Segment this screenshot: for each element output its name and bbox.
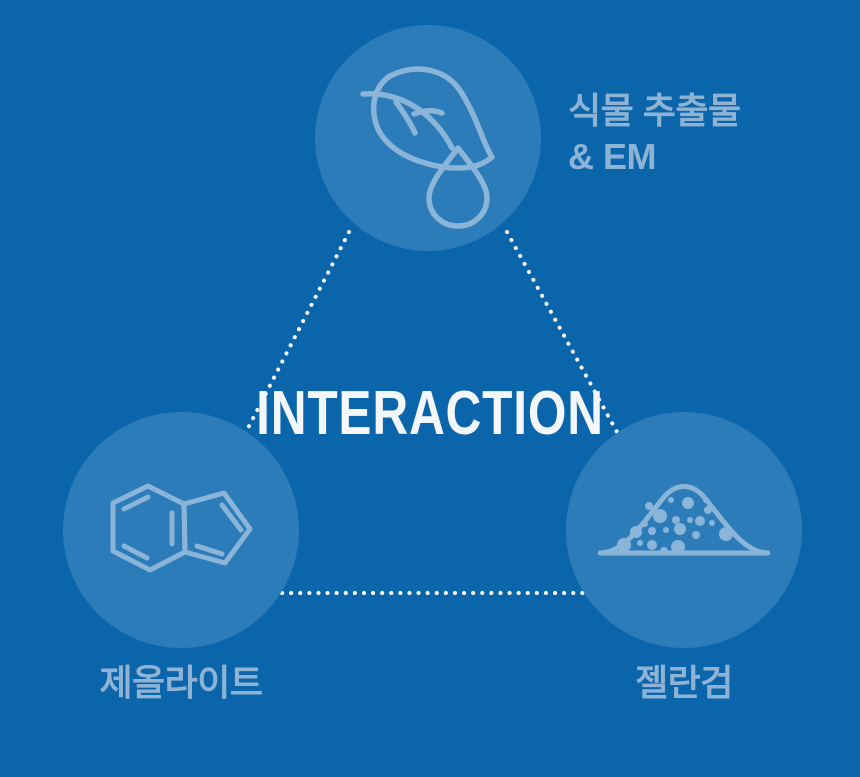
- node-circle-plant-extract[interactable]: [315, 25, 541, 251]
- node-label-plant-extract: 식물 추출물 & EM: [568, 88, 741, 180]
- page-title: INTERACTION: [86, 378, 774, 449]
- node-plant-extract[interactable]: [315, 25, 541, 251]
- node-label-zeolite: 제올라이트: [0, 660, 362, 706]
- node-label-gellan-gum: 젤란검: [505, 660, 860, 706]
- interaction-diagram: INTERACTION 식물 추출물 & EM 제올라이트 젤란검: [0, 0, 860, 777]
